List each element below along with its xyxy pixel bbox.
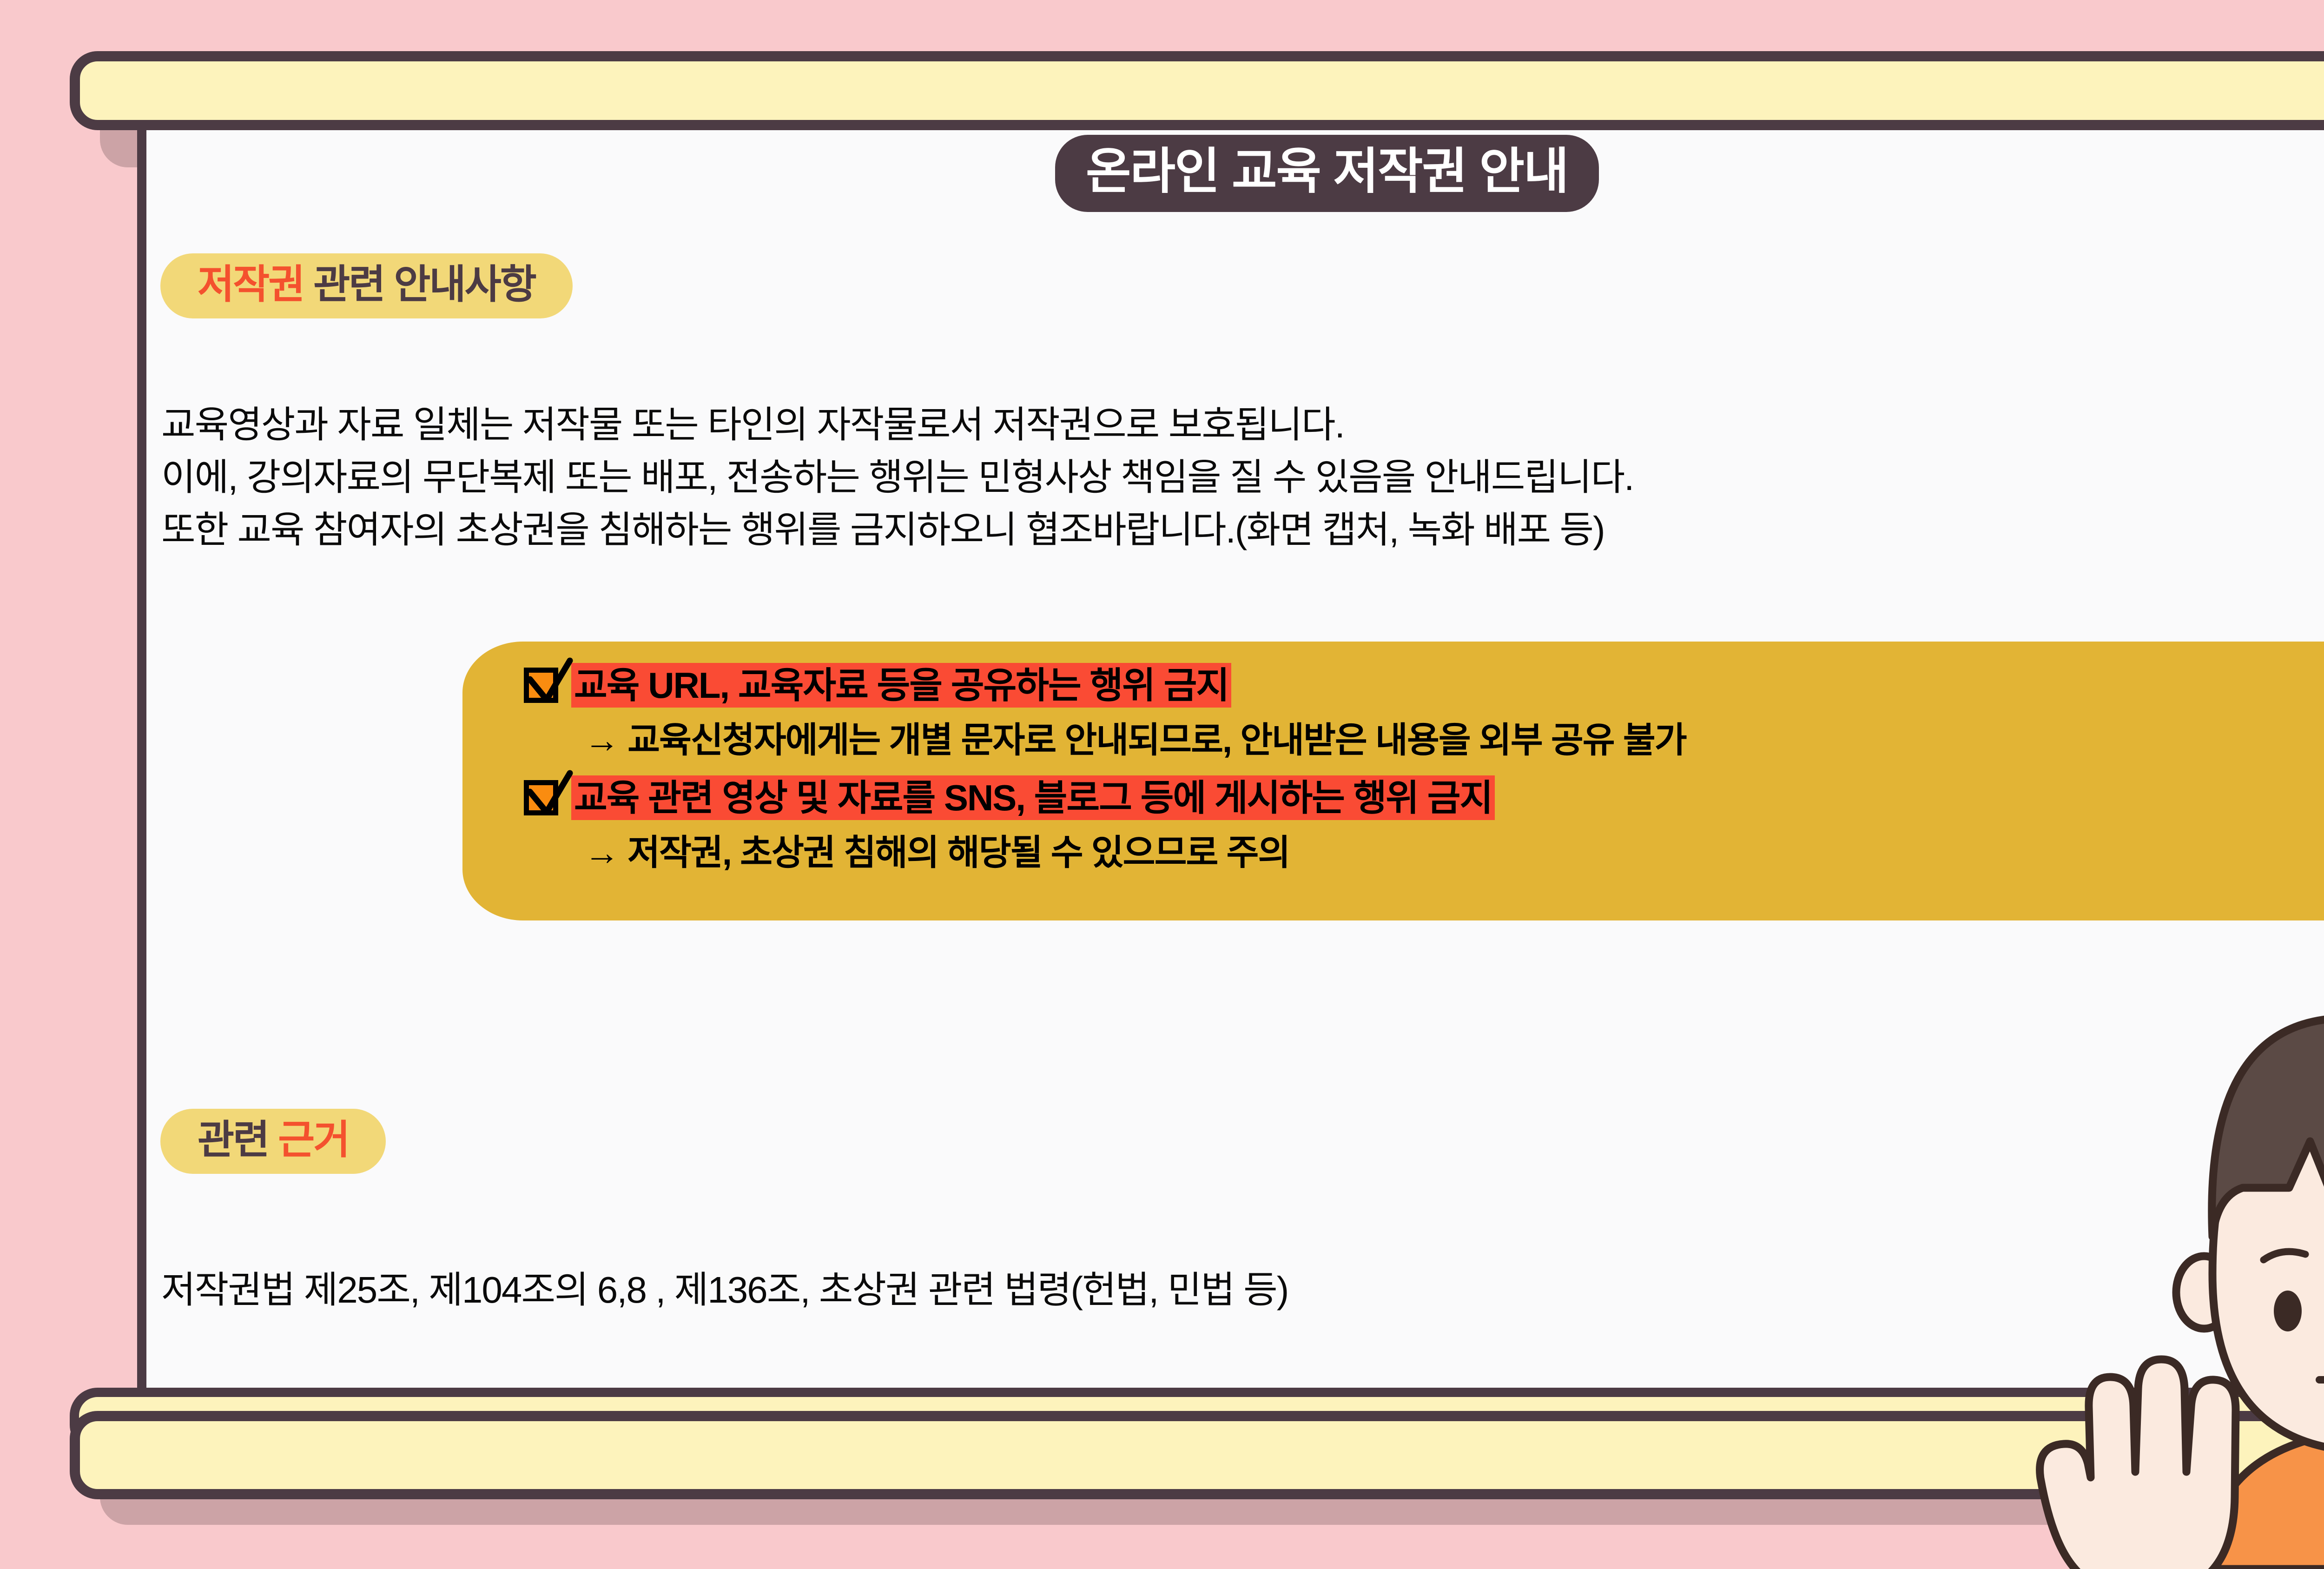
slide-frame: 온라인 교육 저작권 안내 저작권 관련 안내사항 교육영상과 자료 일체는 저… xyxy=(0,0,2324,1569)
rule-item-2: 교육 관련 영상 및 자료를 SNS, 블로그 등에 게시하는 행위 금지 xyxy=(524,775,1495,820)
eye-left xyxy=(2274,1291,2302,1331)
bottom-decorative-bar xyxy=(70,1411,2324,1499)
rule-item-1: 교육 URL, 교육자료 등을 공유하는 행위 금지 xyxy=(524,663,1231,708)
page-title: 온라인 교육 저작권 안내 xyxy=(1055,135,1599,212)
prohibited-actions-box: 교육 URL, 교육자료 등을 공유하는 행위 금지 → 교육신청자에게는 개별… xyxy=(462,642,2324,920)
checkbox-checked-icon xyxy=(524,780,558,815)
rule-1-highlight: 교육 URL, 교육자료 등을 공유하는 행위 금지 xyxy=(571,663,1231,708)
notice-badge-accent: 저작권 xyxy=(198,262,304,307)
notice-paragraph: 교육영상과 자료 일체는 저작물 또는 타인의 자작물로서 저작권으로 보호됩니… xyxy=(161,400,2324,557)
basis-badge-rest: 관련 xyxy=(198,1118,278,1162)
notice-badge-rest: 관련 안내사항 xyxy=(304,262,535,307)
basis-badge-accent: 근거 xyxy=(278,1118,349,1162)
notice-section-badge: 저작권 관련 안내사항 xyxy=(160,253,573,318)
paragraph-line-3: 또한 교육 참여자의 초상권을 침해하는 행위를 금지하오니 협조바랍니다.(화… xyxy=(161,505,2324,556)
content-area: 저작권 관련 안내사항 교육영상과 자료 일체는 저작물 또는 타인의 자작물로… xyxy=(137,177,2324,1404)
paragraph-line-2: 이에, 강의자료의 무단복제 또는 배포, 전송하는 행위는 민형사상 책임을 … xyxy=(161,452,2324,503)
check-mark-icon xyxy=(522,657,576,712)
raised-hand xyxy=(2040,1359,2236,1569)
legal-basis-text: 저작권법 제25조, 제104조의 6,8 , 제136조, 초상권 관련 법령… xyxy=(161,1260,2324,1314)
top-decorative-bar xyxy=(70,51,2324,130)
rule-2-sub: → 저작권, 초상권 침해의 해당될 수 있으므로 주의 xyxy=(584,832,1289,874)
rule-1-sub: → 교육신청자에게는 개별 문자로 안내되므로, 안내받은 내용을 외부 공유 … xyxy=(584,720,1686,761)
rule-2-highlight: 교육 관련 영상 및 자료를 SNS, 블로그 등에 게시하는 행위 금지 xyxy=(571,775,1495,820)
paragraph-line-1: 교육영상과 자료 일체는 저작물 또는 타인의 자작물로서 저작권으로 보호됩니… xyxy=(161,400,2324,450)
boy-stop-gesture-illustration xyxy=(2022,939,2324,1569)
check-mark-icon xyxy=(522,769,576,824)
basis-section-badge: 관련 근거 xyxy=(160,1109,386,1174)
checkbox-checked-icon xyxy=(524,668,558,703)
